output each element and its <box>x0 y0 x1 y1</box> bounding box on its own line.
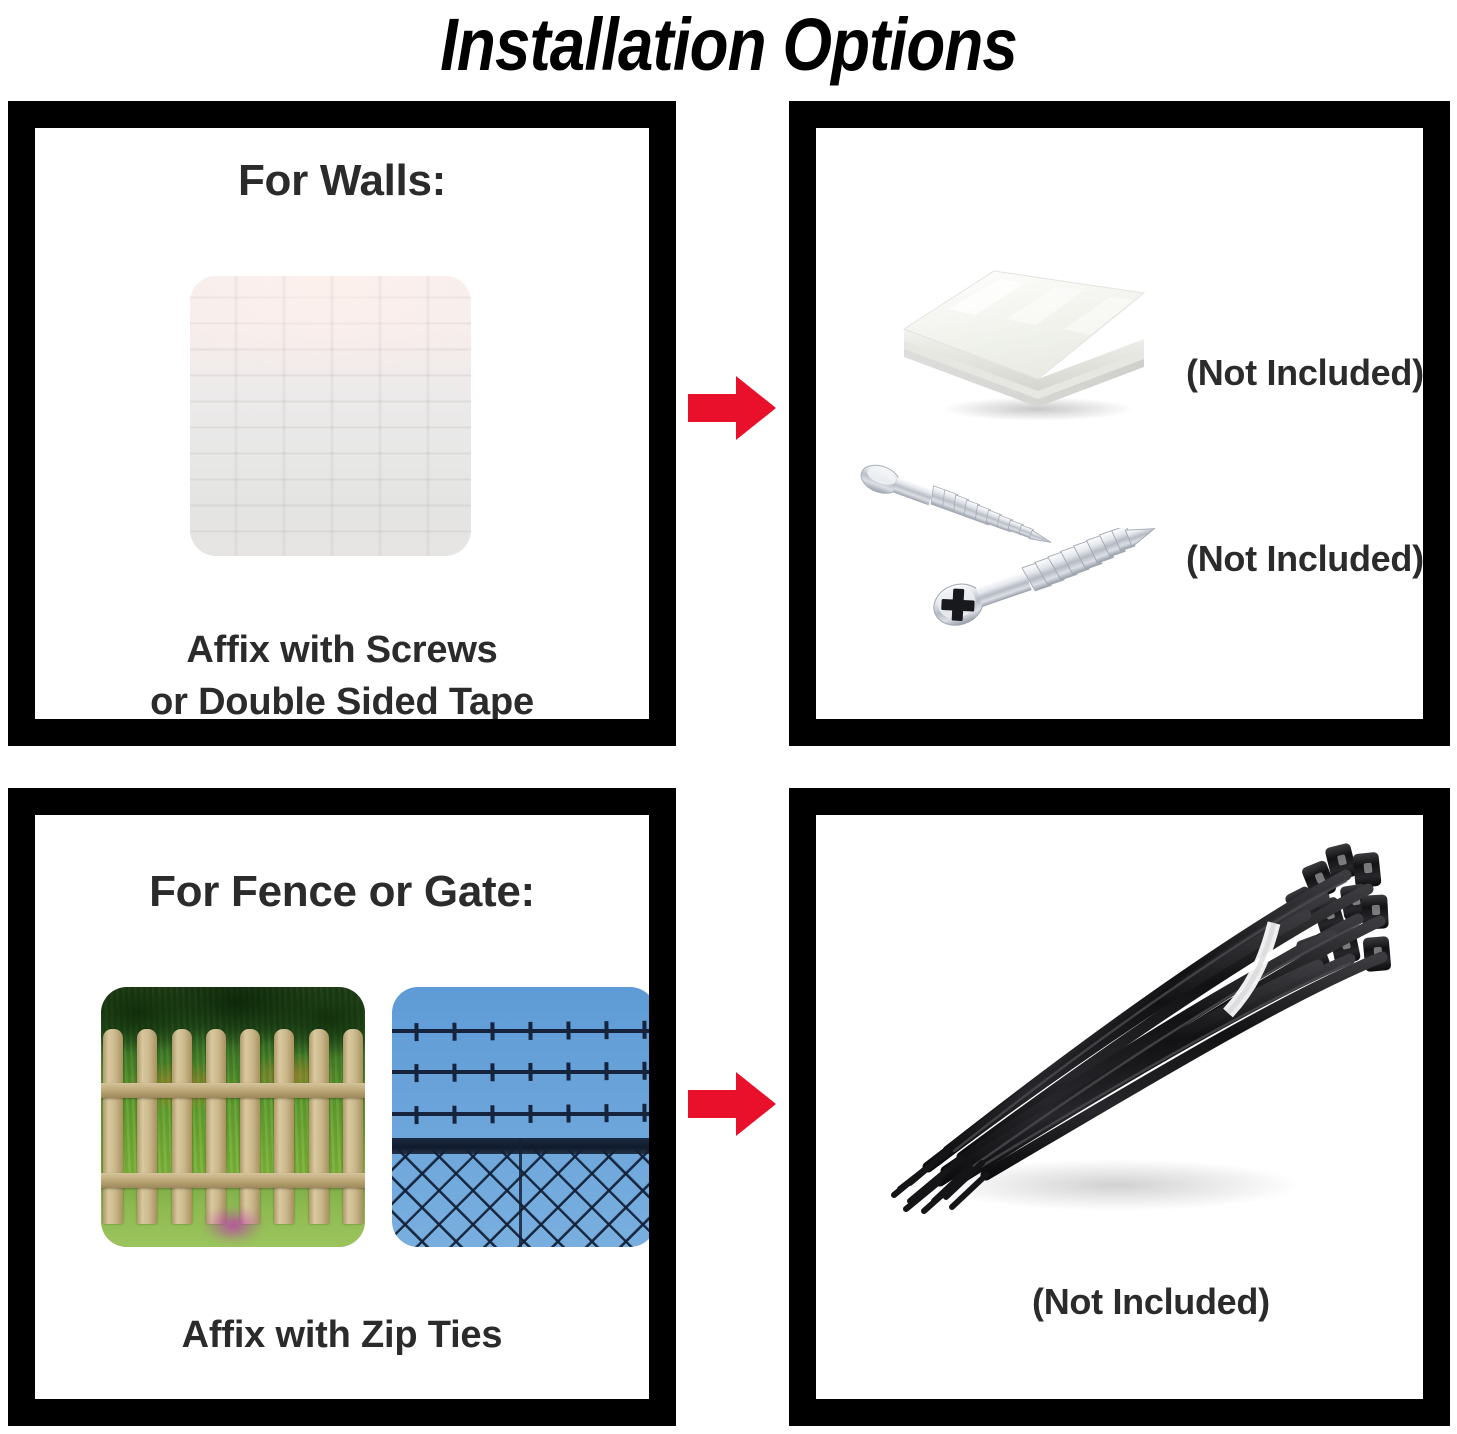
white-brick-wall-photo <box>190 276 471 556</box>
arrow-right-icon <box>688 374 776 442</box>
panel-for-fence-content: For Fence or Gate: Affix with Zip <box>35 815 649 1399</box>
panel-heading-for-fence-or-gate: For Fence or Gate: <box>35 867 649 917</box>
caption-affix-with-screws: Affix with Screws <box>35 624 649 676</box>
panel-heading-for-walls: For Walls: <box>35 156 649 206</box>
panel-for-walls: For Walls: Affix with Screws or Double S… <box>8 101 676 746</box>
barbed-wire-strand <box>392 1070 649 1074</box>
fence-pickets <box>101 1029 365 1224</box>
label-not-included-zip-ties: (Not Included) <box>1032 1281 1270 1323</box>
fence-purple-patch <box>201 1205 265 1245</box>
chain-link-barbed-wire-fence-photo <box>392 987 649 1247</box>
page-title: Installation Options <box>102 2 1355 88</box>
double-sided-tape-stack-icon <box>888 263 1156 423</box>
screw-phillips-icon <box>926 528 1176 633</box>
panel-for-fence-or-gate: For Fence or Gate: Affix with Zip <box>8 788 676 1426</box>
caption-affix-with-zip-ties: Affix with Zip Ties <box>35 1309 649 1361</box>
panel-wall-hardware: (Not Included) <box>789 101 1450 746</box>
barbed-wire-strand <box>392 1029 649 1033</box>
label-not-included-screws: (Not Included) <box>1186 538 1423 580</box>
barbed-wire-strand <box>392 1112 649 1116</box>
panel-fence-hardware: (Not Included) <box>789 788 1450 1426</box>
label-not-included-tape: (Not Included) <box>1186 352 1423 394</box>
panel-for-walls-content: For Walls: Affix with Screws or Double S… <box>35 128 649 719</box>
fence-post <box>519 1138 522 1247</box>
panel-fence-hardware-content: (Not Included) <box>816 815 1423 1399</box>
zip-ties-bundle-icon <box>876 837 1416 1257</box>
wooden-picket-fence-photo <box>101 987 365 1247</box>
arrow-right-icon <box>688 1070 776 1138</box>
panel-wall-hardware-content: (Not Included) <box>816 128 1423 719</box>
caption-or-double-sided-tape: or Double Sided Tape <box>35 676 649 719</box>
